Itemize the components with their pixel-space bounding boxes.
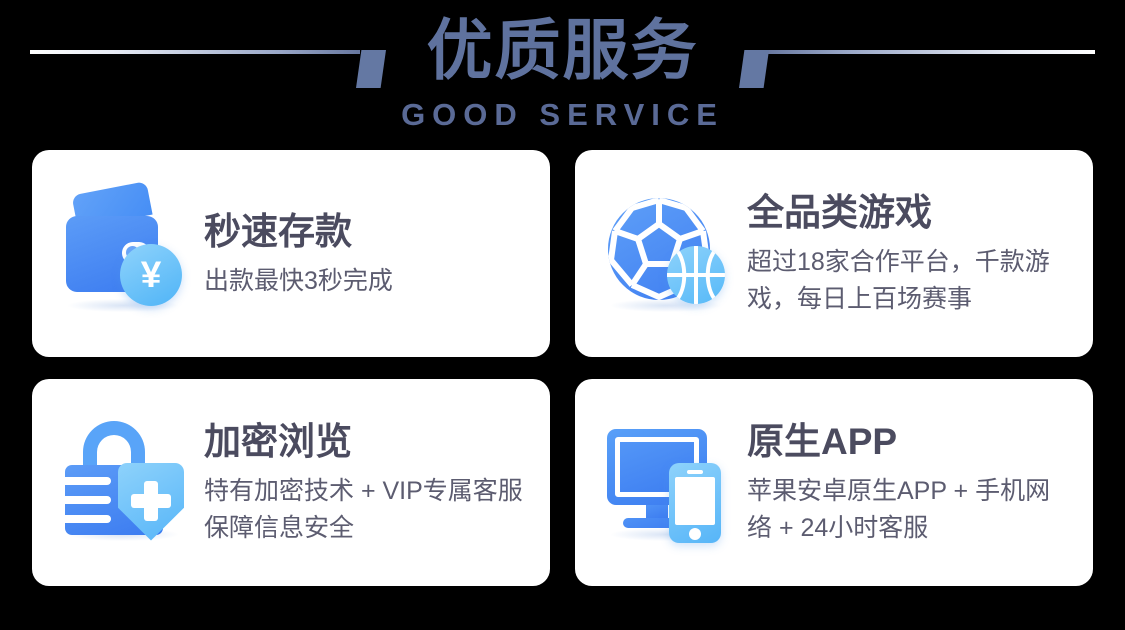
basketball-icon bbox=[667, 246, 725, 304]
card-title: 原生APP bbox=[747, 418, 1075, 466]
page-title: 优质服务 bbox=[0, 8, 1125, 92]
monitor-neck-icon bbox=[646, 505, 668, 519]
soccer-basketball-icon bbox=[605, 190, 733, 318]
header: 优质服务 GOOD SERVICE bbox=[0, 0, 1125, 146]
lock-shield-icon bbox=[62, 419, 190, 547]
lock-slot-icon bbox=[65, 515, 111, 523]
feature-card-encryption[interactable]: 加密浏览 特有加密技术 + VIP专属客服保障信息安全 bbox=[32, 379, 550, 586]
yen-symbol-icon: ¥ bbox=[120, 244, 182, 306]
card-text-block: 加密浏览 特有加密技术 + VIP专属客服保障信息安全 bbox=[204, 418, 532, 547]
card-text-block: 秒速存款 出款最快3秒完成 bbox=[204, 208, 532, 300]
page-subtitle: GOOD SERVICE bbox=[0, 96, 1125, 134]
monitor-phone-icon bbox=[605, 419, 733, 547]
card-title: 秒速存款 bbox=[204, 208, 532, 256]
feature-card-games[interactable]: 全品类游戏 超过18家合作平台，千款游戏，每日上百场赛事 bbox=[575, 150, 1093, 357]
card-text-block: 原生APP 苹果安卓原生APP + 手机网络 + 24小时客服 bbox=[747, 418, 1075, 547]
phone-speaker-icon bbox=[687, 470, 703, 474]
card-description: 特有加密技术 + VIP专属客服保障信息安全 bbox=[204, 473, 532, 547]
feature-card-deposit[interactable]: ¥ 秒速存款 出款最快3秒完成 bbox=[32, 150, 550, 357]
card-description: 出款最快3秒完成 bbox=[204, 263, 532, 300]
wallet-yen-icon: ¥ bbox=[62, 190, 190, 318]
phone-home-button-icon bbox=[689, 528, 701, 540]
feature-card-grid: ¥ 秒速存款 出款最快3秒完成 bbox=[32, 150, 1093, 586]
card-description: 苹果安卓原生APP + 手机网络 + 24小时客服 bbox=[747, 473, 1075, 547]
card-description: 超过18家合作平台，千款游戏，每日上百场赛事 bbox=[747, 244, 1075, 318]
card-title: 全品类游戏 bbox=[747, 189, 1075, 237]
feature-card-native-app[interactable]: 原生APP 苹果安卓原生APP + 手机网络 + 24小时客服 bbox=[575, 379, 1093, 586]
promo-banner: 优质服务 GOOD SERVICE ¥ 秒速存款 出款最快3秒完成 bbox=[0, 0, 1125, 630]
card-title: 加密浏览 bbox=[204, 418, 532, 466]
shield-cross-icon bbox=[131, 494, 171, 508]
phone-screen-icon bbox=[675, 477, 715, 525]
lock-slot-icon bbox=[65, 496, 111, 504]
card-text-block: 全品类游戏 超过18家合作平台，千款游戏，每日上百场赛事 bbox=[747, 189, 1075, 318]
lock-slot-icon bbox=[65, 477, 111, 485]
